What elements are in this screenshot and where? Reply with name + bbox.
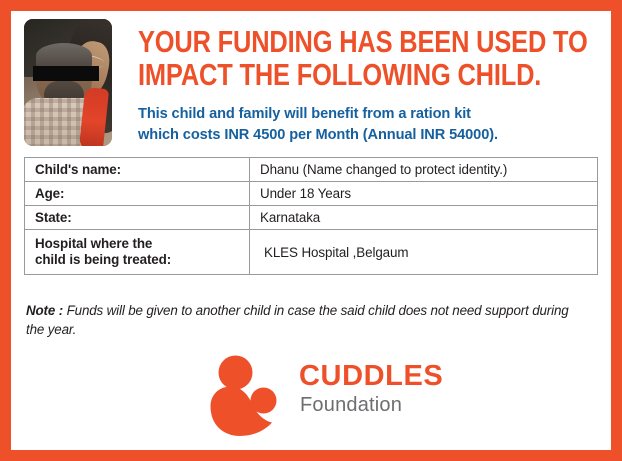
cuddles-parent-child-mark-icon (207, 355, 287, 437)
row-label-state: State: (25, 206, 250, 230)
subtitle-line-1: This child and family will benefit from … (138, 104, 608, 125)
note-body: Funds will be given to another child in … (26, 303, 569, 337)
headline-line-2: IMPACT THE FOLLOWING CHILD. (138, 58, 520, 91)
table-row: Hospital where the child is being treate… (25, 230, 598, 275)
page-title: YOUR FUNDING HAS BEEN USED TO IMPACT THE… (138, 25, 520, 91)
row-value-child-name: Dhanu (Name changed to protect identity.… (250, 158, 598, 182)
cuddles-foundation-logo: CUDDLES Foundation (207, 355, 447, 437)
note-text: Note : Funds will be given to another ch… (26, 301, 588, 339)
row-label-hospital: Hospital where the child is being treate… (25, 230, 250, 275)
table-row: Age: Under 18 Years (25, 182, 598, 206)
row-value-hospital: KLES Hospital ,Belgaum (250, 230, 598, 275)
row-value-state: Karnataka (250, 206, 598, 230)
row-label-hospital-line-2: child is being treated: (35, 252, 249, 269)
subtitle-line-2: which costs INR 4500 per Month (Annual I… (138, 125, 608, 146)
card-inner: YOUR FUNDING HAS BEEN USED TO IMPACT THE… (11, 11, 611, 450)
subtitle: This child and family will benefit from … (138, 104, 608, 146)
child-info-table: Child's name: Dhanu (Name changed to pro… (24, 157, 598, 275)
certificate-card: YOUR FUNDING HAS BEEN USED TO IMPACT THE… (0, 0, 622, 461)
logo-subword: Foundation (300, 394, 402, 416)
headline-line-1: YOUR FUNDING HAS BEEN USED TO (138, 25, 520, 58)
header-section: YOUR FUNDING HAS BEEN USED TO IMPACT THE… (24, 16, 604, 156)
row-label-age: Age: (25, 182, 250, 206)
photo-redaction-bar (33, 66, 99, 81)
row-label-hospital-line-1: Hospital where the (35, 236, 249, 253)
row-value-age: Under 18 Years (250, 182, 598, 206)
row-label-child-name: Child's name: (25, 158, 250, 182)
table-row: State: Karnataka (25, 206, 598, 230)
note-prefix: Note : (26, 303, 63, 318)
child-photo (24, 19, 112, 146)
logo-wordmark: CUDDLES (299, 361, 443, 391)
table-row: Child's name: Dhanu (Name changed to pro… (25, 158, 598, 182)
